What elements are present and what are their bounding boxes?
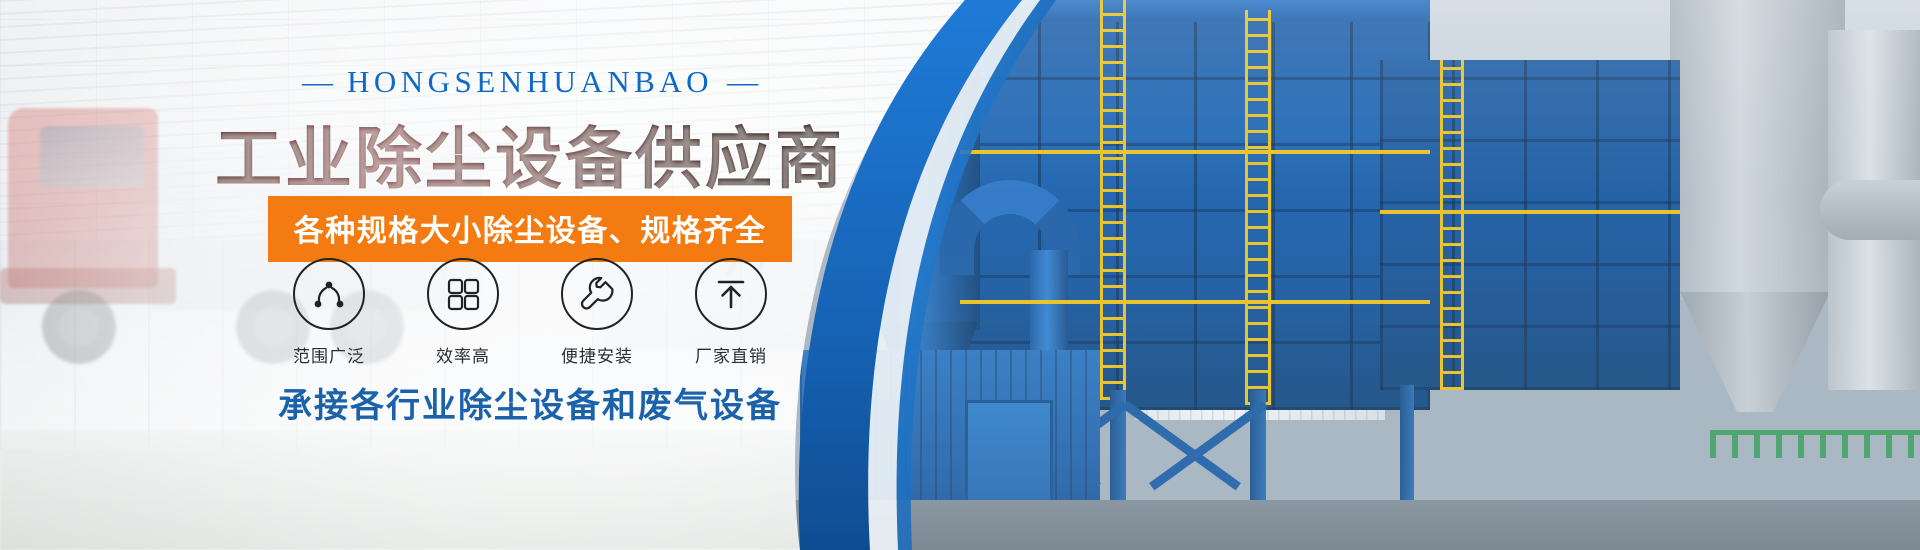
feature-label: 便捷安装 [553, 342, 641, 367]
feature-icon-circle [293, 258, 365, 330]
arrow-up-bar-icon [712, 275, 750, 313]
feature-icon-circle [561, 258, 633, 330]
feature-icon-circle [427, 258, 499, 330]
hero-content: —HONGSENHUANBAO— 工业除尘设备供应商 各种规格大小除尘设备、规格… [0, 0, 1100, 550]
eyebrow-dash-left: — [302, 64, 333, 100]
feature-label: 范围广泛 [285, 342, 373, 367]
wrench-icon [577, 274, 617, 314]
network-scope-icon [309, 274, 349, 314]
feature-item-efficiency[interactable]: 效率高 [419, 258, 507, 367]
subtitle-bar: 各种规格大小除尘设备、规格齐全 [268, 196, 793, 262]
eyebrow-text: HONGSENHUANBAO [347, 64, 713, 99]
subtitle-bar-wrap: 各种规格大小除尘设备、规格齐全 [0, 196, 1060, 262]
feature-item-factory-direct[interactable]: 厂家直销 [687, 258, 775, 367]
feature-label: 厂家直销 [687, 342, 775, 367]
eyebrow-dash-right: — [727, 64, 758, 100]
feature-item-installation[interactable]: 便捷安装 [553, 258, 641, 367]
hero-banner: ╱╱╱ [0, 0, 1920, 550]
feature-item-scope[interactable]: 范围广泛 [285, 258, 373, 367]
feature-list: 范围广泛 效率高 [0, 258, 1060, 367]
page-title: 工业除尘设备供应商 [0, 105, 1060, 202]
hero-tagline: 承接各行业除尘设备和废气设备 [0, 378, 1060, 427]
grid-four-squares-icon [444, 275, 482, 313]
feature-label: 效率高 [419, 342, 507, 367]
brand-eyebrow: —HONGSENHUANBAO— [0, 64, 1060, 100]
feature-icon-circle [695, 258, 767, 330]
